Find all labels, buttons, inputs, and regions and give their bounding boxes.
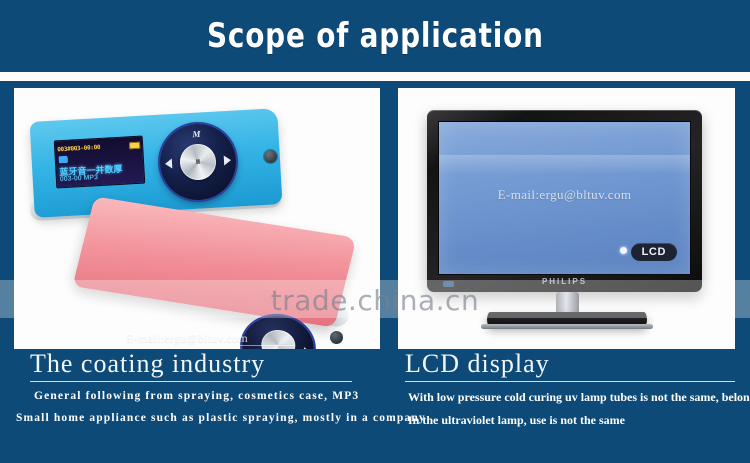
image-panels: 003#003-00:00 蓝牙音一并数厚 003-00 MP3 M ⏸: [0, 81, 750, 349]
caption-heading: LCD display: [405, 349, 750, 379]
tv-product-photo: E-mail:ergu@bltuv.com LCD PHILIPS: [398, 88, 735, 349]
folder-icon: [59, 156, 68, 163]
page-title: Scope of application: [207, 16, 544, 56]
mp3-pink-body: [72, 196, 356, 327]
mp3-pink-headphone-jack: [330, 331, 343, 344]
power-led-icon: [620, 247, 627, 254]
tv-email-watermark: E-mail:ergu@bltuv.com: [439, 187, 690, 203]
tv-bezel: E-mail:ergu@bltuv.com LCD PHILIPS: [427, 110, 702, 292]
mp3-screen-line2: 003-00 MP3: [60, 174, 98, 183]
caption-underline: [30, 381, 352, 382]
triangle-right-icon[interactable]: [224, 155, 232, 165]
tv-stand-base-lip: [481, 324, 653, 329]
tv-brand-label: PHILIPS: [427, 277, 702, 286]
caption-line-2: In the ultraviolet lamp, use is not the …: [408, 413, 750, 428]
caption-line-1: With low pressure cold curing uv lamp tu…: [408, 390, 750, 405]
caption-area: The coating industry General following f…: [0, 349, 750, 463]
tv-screen: E-mail:ergu@bltuv.com LCD: [438, 121, 691, 275]
play-pause-icon[interactable]: ⏸: [191, 156, 205, 168]
screen-glare: [439, 155, 690, 173]
mp3-lcd-screen: 003#003-00:00 蓝牙音一并数厚 003-00 MP3: [54, 136, 146, 189]
bottom-strip: [0, 455, 750, 463]
panel-coating-industry: 003#003-00:00 蓝牙音一并数厚 003-00 MP3 M ⏸: [14, 88, 380, 349]
page-root: Scope of application 003#003-00:00 蓝牙音一并…: [0, 0, 750, 463]
mp3-screen-statusbar: 003#003-00:00: [57, 140, 140, 155]
email-watermark: E-mail:ergu@bltuv.com: [126, 331, 248, 346]
mp3-headphone-jack: [264, 150, 277, 163]
battery-icon: [129, 141, 140, 149]
caption-underline: [405, 381, 735, 382]
mp3-center-button[interactable]: ⏸: [179, 143, 217, 181]
caption-coating-industry: The coating industry General following f…: [14, 349, 414, 424]
caption-line-1: General following from spraying, cosmeti…: [34, 390, 414, 402]
page-header: Scope of application: [0, 0, 750, 72]
caption-line-2: Small home appliance such as plastic spr…: [16, 412, 414, 424]
triangle-left-icon[interactable]: [165, 158, 173, 168]
mode-button-label[interactable]: M: [192, 129, 201, 139]
caption-heading: The coating industry: [30, 349, 414, 379]
mp3-pink-center-button[interactable]: [259, 327, 297, 349]
panel-lcd-display: E-mail:ergu@bltuv.com LCD PHILIPS: [398, 88, 735, 349]
mp3-track-number: 003#003-00:00: [57, 143, 100, 152]
lcd-badge: LCD: [631, 243, 677, 261]
header-divider: [0, 72, 750, 81]
caption-lcd-display: LCD display With low pressure cold curin…: [405, 349, 750, 428]
mp3-product-photo: 003#003-00:00 蓝牙音一并数厚 003-00 MP3 M ⏸: [14, 88, 380, 349]
